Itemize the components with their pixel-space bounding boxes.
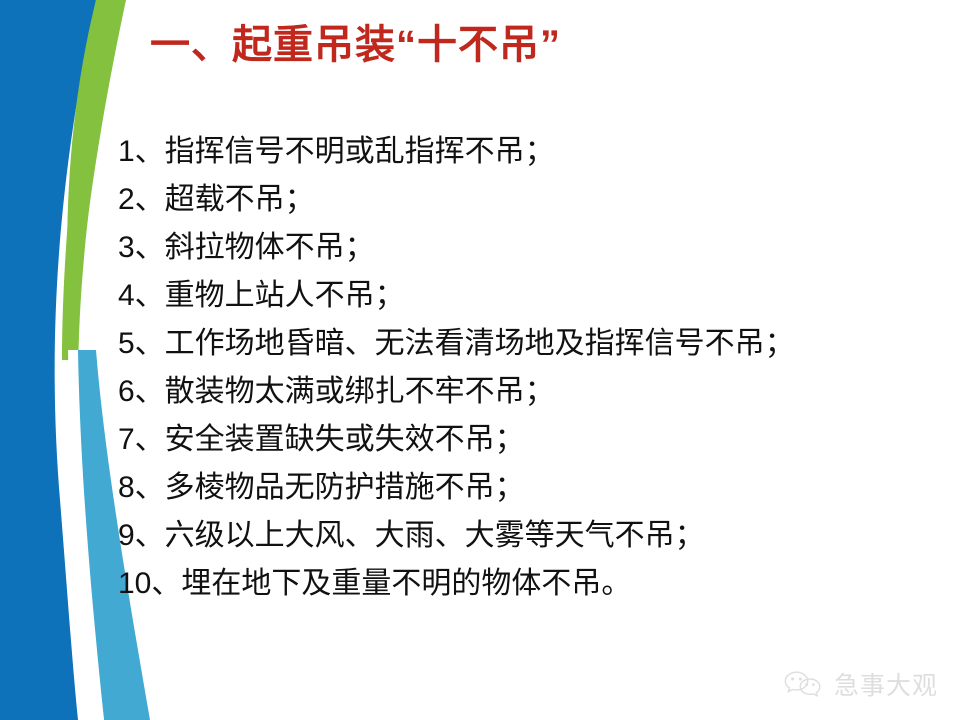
- green-ribbon-shape: [67, 0, 124, 420]
- blue-ribbon-shape: [0, 0, 96, 720]
- white-separator-sliver: [68, 350, 104, 720]
- list-item: 3、斜拉物体不吊；: [118, 224, 918, 272]
- list-item: 4、重物上站人不吊；: [118, 272, 918, 320]
- list-item: 9、六级以上大风、大雨、大雾等天气不吊；: [118, 512, 918, 560]
- rules-list: 1、指挥信号不明或乱指挥不吊； 2、超载不吊； 3、斜拉物体不吊； 4、重物上站…: [118, 128, 918, 608]
- watermark-text: 急事大观: [834, 666, 938, 702]
- list-item: 5、工作场地昏暗、无法看清场地及指挥信号不吊；: [118, 320, 918, 368]
- list-item: 6、散装物太满或绑扎不牢不吊；: [118, 368, 918, 416]
- green-ribbon-shape-upper: [62, 0, 126, 360]
- list-item: 2、超载不吊；: [118, 176, 918, 224]
- watermark: 急事大观: [782, 666, 938, 702]
- list-item: 1、指挥信号不明或乱指挥不吊；: [118, 128, 918, 176]
- list-item: 7、安全装置缺失或失效不吊；: [118, 416, 918, 464]
- page-title: 一、起重吊装“十不吊”: [150, 22, 910, 68]
- list-item: 8、多棱物品无防护措施不吊；: [118, 464, 918, 512]
- wechat-icon: [782, 669, 824, 699]
- list-item: 10、埋在地下及重量不明的物体不吊。: [118, 560, 918, 608]
- slide-canvas: 一、起重吊装“十不吊” 1、指挥信号不明或乱指挥不吊； 2、超载不吊； 3、斜拉…: [0, 0, 960, 720]
